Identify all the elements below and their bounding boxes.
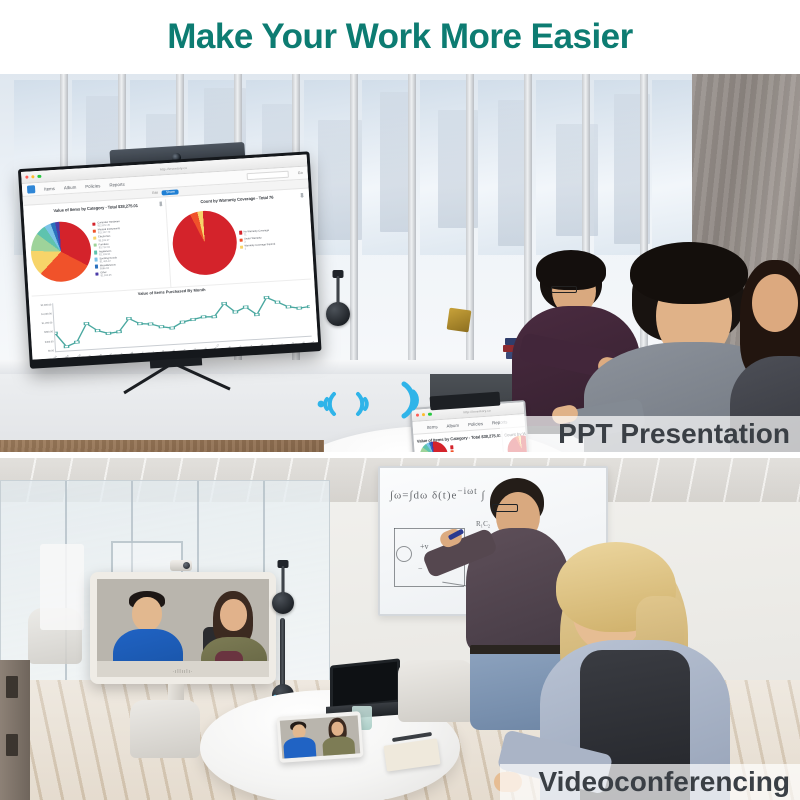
legend-swatch bbox=[92, 222, 96, 226]
x-tick: Oct bbox=[311, 341, 315, 345]
pie-chart-category bbox=[29, 220, 93, 284]
videoconference-room-scene: ∫ω=∫dω δ(t)e−iωt ∫ ∫ e-stdt +v − R₁C₂ ΔV… bbox=[0, 458, 800, 800]
y-tick: $800.00 bbox=[44, 331, 53, 335]
chair bbox=[130, 700, 200, 758]
panel-videoconferencing: ∫ω=∫dω δ(t)e−iωt ∫ ∫ e-stdt +v − R₁C₂ ΔV… bbox=[0, 458, 800, 800]
tv-screen: http://inventory.co Items Album Policies… bbox=[21, 155, 318, 360]
x-tick: Sep bbox=[171, 349, 175, 353]
telepresence-camera bbox=[170, 560, 192, 571]
legend-label: Other$1,180.95 bbox=[100, 271, 111, 278]
x-tick: 2014 bbox=[53, 356, 58, 360]
pie-chart-warranty-card: Count by Warranty Coverage - Total 76 bbox=[168, 191, 312, 287]
dongle-puck bbox=[272, 592, 294, 614]
tablet-device bbox=[276, 711, 363, 763]
dongle-cable bbox=[282, 566, 285, 594]
y-tick: $1,600.00 bbox=[41, 312, 52, 316]
x-tick: Sep bbox=[301, 341, 305, 345]
x-tick: May bbox=[130, 352, 135, 356]
x-tick: May bbox=[259, 344, 264, 348]
x-tick: 2015 bbox=[64, 355, 69, 359]
x-tick: Jun bbox=[141, 351, 145, 355]
pie-chart-category-card: Value of Items by Category - Total $38,2… bbox=[26, 199, 171, 295]
y-tick: $0.00 bbox=[48, 349, 54, 352]
x-tick: Oct bbox=[182, 349, 186, 353]
telepresence-display: ·ıllıılı· bbox=[90, 572, 276, 684]
legend-swatch bbox=[93, 236, 97, 240]
y-tick: $2,000.00 bbox=[41, 303, 52, 307]
pie-chart-warranty-legend: No Warranty Coverage71 Under Warranty3 bbox=[236, 227, 308, 252]
wireless-dongle bbox=[326, 302, 350, 326]
door-frame bbox=[0, 660, 30, 800]
x-tick: Aug bbox=[161, 350, 165, 354]
marketing-banner: Make Your Work More Easier bbox=[0, 0, 800, 800]
edit-label[interactable]: Edit bbox=[152, 191, 158, 195]
y-tick: $1,200.00 bbox=[42, 322, 53, 326]
legend-swatch bbox=[95, 265, 99, 269]
minimize-icon[interactable] bbox=[31, 175, 34, 178]
tab-reports[interactable]: Reports bbox=[109, 181, 125, 187]
y-tick: $400.00 bbox=[45, 340, 54, 344]
x-tick: Jan '17 bbox=[214, 345, 221, 352]
page-title: Make Your Work More Easier bbox=[0, 0, 800, 74]
legend-label: Electronics$5,203.37 bbox=[98, 235, 111, 242]
maximize-icon[interactable] bbox=[38, 175, 41, 178]
tab-policies[interactable]: Policies bbox=[85, 183, 100, 189]
x-tick: Apr bbox=[249, 345, 253, 349]
tab-album[interactable]: Album bbox=[64, 184, 77, 190]
legend-label: Sporting Goods$1,405.22 bbox=[99, 256, 117, 263]
legend-label: Furniture$3,712.91 bbox=[99, 242, 110, 249]
panel-ppt-presentation: http://inventory.co Items Album Policies… bbox=[0, 74, 800, 452]
legend-swatch bbox=[239, 245, 243, 249]
x-tick: Feb bbox=[98, 354, 102, 358]
tablet-screen bbox=[280, 715, 360, 758]
legend-swatch bbox=[95, 272, 99, 276]
pie-chart-warranty bbox=[170, 209, 238, 277]
x-tick: Mar bbox=[238, 345, 242, 349]
x-tick: Jul bbox=[280, 343, 284, 346]
legend-swatch bbox=[94, 258, 98, 262]
wifi-signal-icon bbox=[396, 374, 432, 426]
x-tick: Feb bbox=[228, 346, 232, 350]
caption-ppt-presentation: PPT Presentation bbox=[500, 416, 800, 452]
legend-swatch bbox=[94, 251, 98, 255]
search-go-button[interactable]: Go bbox=[298, 171, 303, 175]
x-tick: Nov bbox=[192, 348, 196, 352]
tv-display: http://inventory.co Items Album Policies… bbox=[18, 151, 322, 368]
wifi-signal-icon bbox=[312, 382, 340, 426]
pie-chart-category-legend: Computer Hardware$12,872.45 Musical Inst… bbox=[89, 218, 167, 279]
legend-label: Under Warranty3 bbox=[244, 237, 262, 244]
media-console bbox=[0, 440, 324, 452]
x-tick: Apr bbox=[119, 353, 123, 357]
device-brand: ·ıllıılı· bbox=[172, 669, 193, 675]
x-tick: Dec bbox=[203, 347, 207, 351]
x-tick: Jan bbox=[88, 355, 92, 359]
app-logo bbox=[27, 185, 35, 193]
tv-dashboard: http://inventory.co Items Album Policies… bbox=[21, 155, 318, 360]
wireless-dongle bbox=[272, 592, 294, 614]
office-meeting-scene: http://inventory.co Items Album Policies… bbox=[0, 74, 800, 452]
legend-label: Warranty Coverage Expired2 bbox=[244, 243, 275, 251]
legend-swatch bbox=[93, 229, 97, 233]
legend-swatch bbox=[94, 243, 98, 247]
x-tick: Aug bbox=[290, 342, 294, 346]
tab-policies[interactable]: Policies bbox=[468, 421, 483, 427]
share-button[interactable]: Share bbox=[162, 189, 179, 195]
pie-chart-category-card: Value of Items by Category - Total $38,2… bbox=[417, 431, 505, 452]
tab-items[interactable]: Items bbox=[44, 185, 55, 191]
x-tick: Jul bbox=[151, 351, 155, 354]
tab-album[interactable]: Album bbox=[446, 422, 459, 428]
dongle-puck bbox=[326, 302, 350, 326]
search-input[interactable] bbox=[247, 170, 289, 180]
close-icon[interactable] bbox=[25, 175, 28, 178]
x-tick: Mar bbox=[109, 353, 113, 357]
chair bbox=[398, 660, 474, 722]
legend-swatch bbox=[239, 238, 243, 242]
legend-label: Miscellaneous$986.55 bbox=[100, 263, 116, 270]
legend-swatch bbox=[239, 231, 243, 235]
telepresence-video-feed bbox=[97, 579, 269, 677]
wifi-signal-icon bbox=[352, 382, 380, 426]
legend-label: Appliances$2,103.91 bbox=[99, 249, 112, 256]
x-tick: Jun bbox=[270, 344, 274, 348]
caption-videoconferencing: Videoconferencing bbox=[500, 764, 800, 800]
x-tick: 2016 bbox=[76, 354, 81, 359]
dongle-cable bbox=[337, 276, 340, 304]
